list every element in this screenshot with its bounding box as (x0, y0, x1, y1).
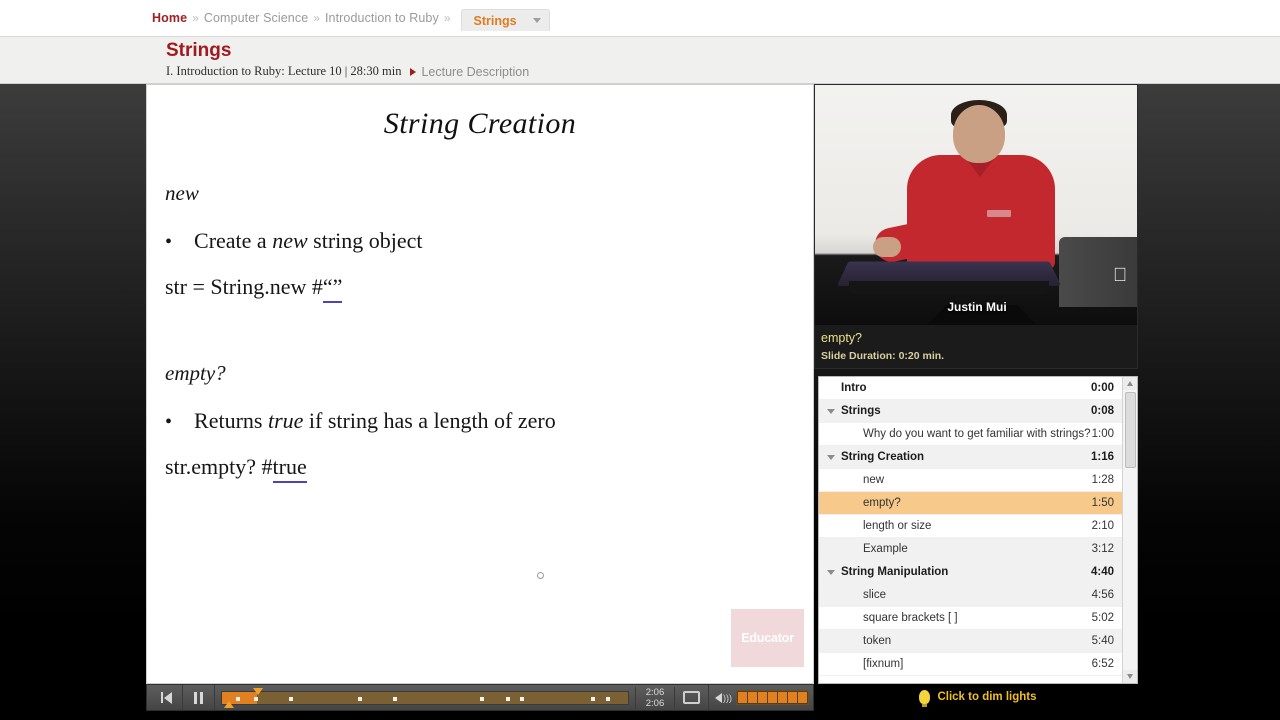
breadcrumb-item-home[interactable]: Home (152, 11, 187, 25)
dim-lights-label: Click to dim lights (937, 691, 1036, 703)
slide-code-1: str = String.new # “” (165, 274, 793, 303)
lecture-header: Strings I. Introduction to Ruby: Lecture… (0, 37, 1280, 84)
fullscreen-icon (683, 691, 700, 704)
lightbulb-icon (919, 690, 930, 704)
toc-label: token (837, 635, 1092, 647)
slide-code-1-text: str = String.new # (165, 274, 323, 300)
toc-row-new[interactable]: new 1:28 (819, 469, 1122, 492)
toc-scrollbar[interactable] (1122, 377, 1137, 683)
slide-bullet-1-post: string object (308, 228, 423, 253)
slide-bullet-2: • Returns true if string has a length of… (165, 408, 793, 434)
toc-time: 4:56 (1092, 589, 1114, 601)
chapter-marker[interactable] (520, 697, 524, 701)
slide-code-2-text: str.empty? # (165, 454, 273, 480)
toc-row-token[interactable]: token 5:40 (819, 630, 1122, 653)
bullet-icon: • (165, 412, 172, 432)
toc-row-strings[interactable]: Strings 0:08 (819, 400, 1122, 423)
educator-watermark: Educator (731, 609, 804, 667)
fullscreen-button[interactable] (675, 685, 709, 710)
chapter-marker[interactable] (506, 697, 510, 701)
table-of-contents-panel[interactable]: Intro 0:00 Strings 0:08 Why do you want … (818, 376, 1138, 684)
breadcrumb-tab-label: Strings (474, 14, 517, 28)
current-time: 2:06 (638, 687, 672, 698)
toc-label: square brackets [ ] (837, 612, 1092, 624)
toc-time: 0:08 (1091, 405, 1114, 417)
slide-bullet-2-emphasis: true (268, 408, 303, 433)
breadcrumb-separator: » (192, 11, 199, 25)
chevron-down-icon[interactable] (825, 570, 837, 575)
slide-viewer[interactable]: String Creation new • Create a new strin… (146, 84, 814, 684)
toc-label: slice (837, 589, 1092, 601)
drawing-tablet-base (849, 281, 1049, 294)
chapter-marker[interactable] (606, 697, 610, 701)
toc-time: 1:16 (1091, 451, 1114, 463)
presenter-name-overlay: Justin Mui (815, 300, 1138, 314)
previous-slide-button[interactable] (151, 685, 183, 710)
toc-row-string-manipulation[interactable]: String Manipulation 4:40 (819, 561, 1122, 584)
toc-label: Strings (837, 405, 1091, 417)
breadcrumb-separator: » (313, 11, 320, 25)
progress-scrubber[interactable] (221, 691, 629, 705)
dim-lights-button[interactable]: Click to dim lights (818, 687, 1138, 707)
chapter-marker[interactable] (358, 697, 362, 701)
playhead-handle[interactable] (253, 688, 263, 695)
toc-row-intro[interactable]: Intro 0:00 (819, 377, 1122, 400)
breadcrumb-item-introduction-to-ruby[interactable]: Introduction to Ruby (325, 11, 439, 25)
slide-keyword-new: new (165, 181, 793, 206)
toc-label: String Creation (837, 451, 1091, 463)
toc-label: new (837, 474, 1092, 486)
presenter-hand (873, 237, 901, 257)
chapter-marker[interactable] (289, 697, 293, 701)
toc-row-why-familiar-strings[interactable]: Why do you want to get familiar with str… (819, 423, 1122, 446)
breadcrumb-tab-strings[interactable]: Strings (461, 9, 550, 31)
video-player-controls[interactable]: 2:06 2:06 ))) (146, 684, 814, 711)
current-slide-duration: Slide Duration: 0:20 min. (821, 350, 1137, 362)
toc-time: 1:50 (1092, 497, 1114, 509)
page-title: Strings (166, 39, 1280, 63)
presenter-video-frame[interactable]:  Justin Mui (815, 85, 1138, 325)
slide-bullet-1-pre: Create a (194, 228, 272, 253)
pause-icon (194, 692, 203, 704)
toc-time: 1:28 (1092, 474, 1114, 486)
chapter-marker[interactable] (480, 697, 484, 701)
volume-slider[interactable] (736, 690, 809, 705)
chevron-down-icon[interactable] (825, 455, 837, 460)
toc-label: String Manipulation (837, 566, 1091, 578)
volume-control[interactable]: ))) (709, 690, 809, 705)
lecture-subheader: I. Introduction to Ruby: Lecture 10 | 28… (166, 64, 1280, 79)
slide-body: new • Create a new string object str = S… (147, 181, 813, 483)
slide-code-2-annotated: true (273, 454, 307, 483)
lecture-meta: I. Introduction to Ruby: Lecture 10 | 28… (166, 64, 401, 79)
toc-label: [fixnum] (837, 658, 1092, 670)
toc-label: empty? (837, 497, 1092, 509)
presenter-head (953, 105, 1005, 163)
toc-time: 5:02 (1092, 612, 1114, 624)
presenter-shirt-logo (987, 210, 1011, 217)
chapter-marker[interactable] (236, 697, 240, 701)
volume-icon[interactable]: ))) (715, 693, 732, 703)
toc-time: 6:52 (1092, 658, 1114, 670)
slide-bullet-1: • Create a new string object (165, 228, 793, 254)
toc-row-example[interactable]: Example 3:12 (819, 538, 1122, 561)
chapter-marker[interactable] (591, 697, 595, 701)
slide-bullet-2-post: if string has a length of zero (303, 408, 555, 433)
slide-bullet-1-emphasis: new (272, 228, 307, 253)
total-time: 2:06 (638, 698, 672, 709)
presenter-video-panel[interactable]:  Justin Mui empty? Slide Duration: 0:20… (814, 84, 1138, 369)
table-of-contents-list[interactable]: Intro 0:00 Strings 0:08 Why do you want … (819, 377, 1122, 683)
toc-label: Intro (837, 382, 1091, 394)
skip-previous-icon (161, 692, 172, 704)
time-display: 2:06 2:06 (635, 687, 675, 709)
slide-code-2: str.empty? # true (165, 454, 793, 483)
watermark-label: Educator (741, 631, 794, 645)
triangle-right-icon (410, 68, 416, 76)
toc-time: 1:00 (1092, 428, 1114, 440)
toc-row-string-creation[interactable]: String Creation 1:16 (819, 446, 1122, 469)
toc-label: length or size (837, 520, 1092, 532)
chapter-marker[interactable] (254, 697, 258, 701)
toc-time: 3:12 (1092, 543, 1114, 555)
slide-keyword-empty: empty? (165, 361, 793, 386)
toc-label: Example (837, 543, 1092, 555)
breadcrumb-separator: » (444, 11, 451, 25)
current-slide-name: empty? (821, 331, 1137, 346)
toc-time: 5:40 (1092, 635, 1114, 647)
toc-row-fixnum[interactable]: [fixnum] 6:52 (819, 653, 1122, 676)
scroll-down-icon[interactable] (1123, 670, 1137, 683)
scrollbar-thumb[interactable] (1125, 392, 1136, 468)
slide-code-1-annotated: “” (323, 274, 343, 303)
breadcrumb-item-computer-science[interactable]: Computer Science (204, 11, 308, 25)
toc-row-empty[interactable]: empty? 1:50 (819, 492, 1122, 515)
annotation-dot-icon (537, 572, 544, 579)
lecture-description-label: Lecture Description (421, 65, 529, 79)
lecture-description-toggle[interactable]: Lecture Description (410, 65, 529, 79)
chevron-down-icon[interactable] (533, 18, 541, 23)
scroll-up-icon[interactable] (1123, 377, 1137, 390)
toc-label: Why do you want to get familiar with str… (837, 428, 1092, 440)
current-slide-info: empty? Slide Duration: 0:20 min. (815, 325, 1137, 369)
toc-time: 0:00 (1091, 382, 1114, 394)
toc-row-square-brackets[interactable]: square brackets [ ] 5:02 (819, 607, 1122, 630)
toc-row-slice[interactable]: slice 4:56 (819, 584, 1122, 607)
toc-time: 2:10 (1092, 520, 1114, 532)
chevron-down-icon[interactable] (825, 409, 837, 414)
breadcrumb-bar: Home » Computer Science » Introduction t… (0, 0, 1280, 37)
toc-time: 4:40 (1091, 566, 1114, 578)
apple-logo-icon:  (1113, 265, 1127, 287)
chapter-marker[interactable] (393, 697, 397, 701)
playhead-handle-lower[interactable] (224, 701, 234, 708)
bullet-icon: • (165, 232, 172, 252)
slide-title: String Creation (147, 107, 813, 141)
slide-bullet-2-pre: Returns (194, 408, 268, 433)
pause-button[interactable] (183, 685, 215, 710)
toc-row-length-or-size[interactable]: length or size 2:10 (819, 515, 1122, 538)
